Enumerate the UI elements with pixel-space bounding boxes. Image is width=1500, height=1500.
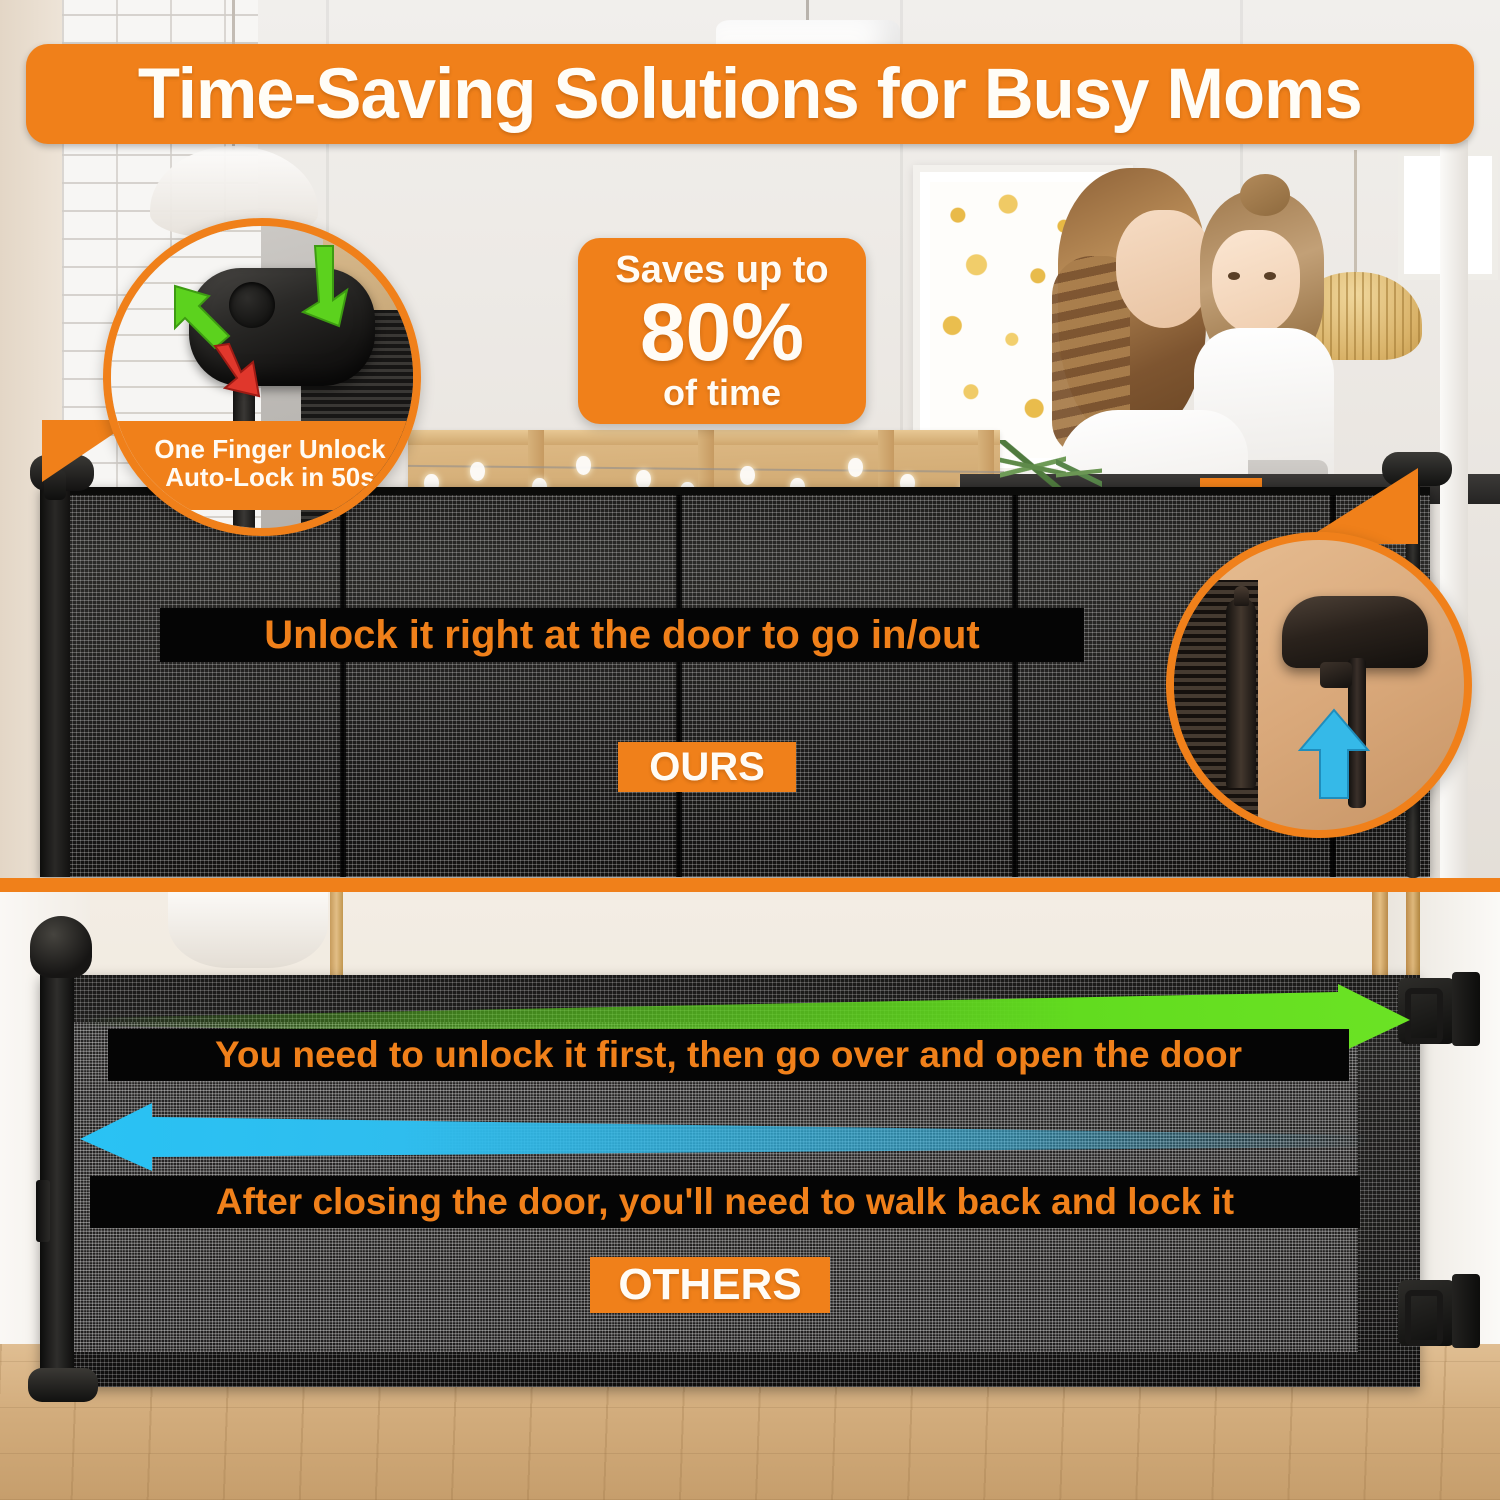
blue-arrow-left-icon: [80, 1095, 1370, 1173]
green-arrow-down-right-icon: [289, 244, 355, 330]
ours-caption-band: Unlock it right at the door to go in/out: [160, 608, 1084, 662]
callout-left-label: One Finger Unlock Auto-Lock in 50s: [111, 421, 421, 510]
green-arrow-up-left-icon: [169, 280, 243, 350]
savings-badge: Saves up to 80% of time: [578, 238, 866, 424]
ours-caption-text: Unlock it right at the door to go in/out: [264, 613, 979, 658]
latch-catch: [1320, 662, 1352, 688]
wall-latch-bracket-bottom: [1398, 1280, 1456, 1346]
floor-lamp-shade: [168, 892, 328, 968]
string-light-bulb: [470, 462, 485, 481]
savings-line1: Saves up to: [615, 251, 828, 289]
string-light-bulb: [740, 466, 755, 485]
savings-line3: of time: [663, 375, 781, 411]
others-caption-band-2: After closing the door, you'll need to w…: [90, 1176, 1360, 1228]
product-infographic: One Finger Unlock Auto-Lock in 50s Time-…: [0, 0, 1500, 1500]
title-text: Time-Saving Solutions for Busy Moms: [138, 59, 1362, 130]
gate-left-post: [40, 487, 70, 877]
gate-mount-knob-top: [30, 916, 92, 978]
others-caption-text-2: After closing the door, you'll need to w…: [216, 1181, 1234, 1223]
page-title: Time-Saving Solutions for Busy Moms: [26, 44, 1474, 144]
others-caption-text-1: You need to unlock it first, then go ove…: [215, 1034, 1242, 1076]
blue-arrow-up-icon: [1296, 706, 1372, 802]
others-caption-band-1: You need to unlock it first, then go ove…: [108, 1029, 1349, 1081]
mother-face: [1116, 210, 1212, 328]
pendant-cord: [806, 0, 809, 22]
child-hair-bun: [1240, 174, 1290, 216]
ours-badge: OURS: [618, 742, 796, 792]
gate-housing-clip: [36, 1180, 50, 1242]
callout-one-finger-unlock[interactable]: One Finger Unlock Auto-Lock in 50s: [103, 218, 421, 536]
savings-percent: 80%: [640, 291, 804, 375]
red-arrow-down-right-icon: [207, 342, 283, 402]
others-badge: OTHERS: [590, 1257, 830, 1313]
wall-latch-plate-bottom: [1452, 1274, 1480, 1348]
others-badge-text: OTHERS: [618, 1263, 801, 1307]
callout-latch-detail[interactable]: [1166, 532, 1472, 838]
child-eye: [1264, 272, 1276, 280]
string-light-bulb: [576, 456, 591, 475]
floor-lamp-pole: [330, 892, 343, 978]
mother-and-daughter-photo: [1044, 160, 1364, 500]
panel-divider: [0, 878, 1500, 892]
gate-edge-bar: [1226, 598, 1256, 788]
callout-left-line2: Auto-Lock in 50s: [111, 463, 421, 492]
child-face: [1212, 230, 1300, 334]
string-light-bulb: [848, 458, 863, 477]
child-eye: [1228, 272, 1240, 280]
gate-edge-bar-cap: [1234, 586, 1249, 606]
wall-latch-plate-top: [1452, 972, 1480, 1046]
gate-mount-knob-bottom: [28, 1368, 98, 1402]
ours-badge-text: OURS: [649, 747, 765, 787]
callout-left-line1: One Finger Unlock: [111, 435, 421, 464]
